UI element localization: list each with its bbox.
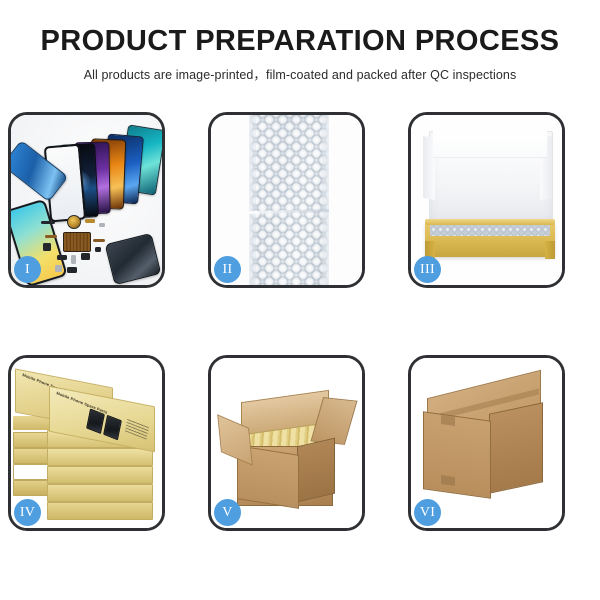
wrap-edge-left [249, 115, 256, 285]
part-ribbon-icon [93, 239, 105, 242]
step-badge-2: II [214, 256, 241, 283]
step-badge-1: I [14, 256, 41, 283]
stacked-box [47, 466, 153, 484]
part-screw-plate-icon [55, 265, 62, 272]
sealed-carton-front-panel [423, 411, 491, 499]
step-badge-4: IV [14, 499, 41, 526]
stacked-box [47, 448, 153, 466]
step-badge-5: V [214, 499, 241, 526]
logic-board-icon [63, 232, 91, 252]
mailer-tray-lip [425, 219, 555, 225]
wrap-edge-right [322, 115, 329, 285]
mailer-lid-top [433, 131, 547, 158]
box-label-spec-lines [125, 418, 149, 440]
part-vibrator-icon [67, 267, 77, 273]
page-title: PRODUCT PREPARATION PROCESS [0, 26, 600, 56]
stacked-box [47, 502, 153, 520]
process-step-3: III [408, 112, 565, 288]
process-step-5: V [208, 355, 365, 531]
box-label-screen-image [103, 415, 122, 441]
part-strip-icon [41, 221, 55, 224]
bubble-pattern [249, 115, 329, 285]
step-badge-3: III [414, 256, 441, 283]
part-speaker-icon [81, 253, 90, 260]
mailer-tray-corner-right [545, 241, 555, 259]
carton-tape-mark-bottom [441, 475, 455, 486]
process-steps-grid: I II [8, 112, 592, 544]
bubble-wrap-sheet [249, 115, 329, 285]
process-step-6: VI [408, 355, 565, 531]
part-silver-clip-icon [99, 223, 105, 227]
step-badge-6: VI [414, 499, 441, 526]
part-copper-flex-icon [45, 235, 57, 238]
box-label-screen-image [86, 408, 105, 434]
process-step-1: I [8, 112, 165, 288]
stacked-box [47, 484, 153, 502]
carton-tape-mark-top [441, 415, 455, 426]
header: PRODUCT PREPARATION PROCESS All products… [0, 26, 600, 83]
part-gold-flex-icon [85, 219, 95, 223]
speaker-coil-icon [67, 215, 81, 229]
sealed-carton-side-panel [489, 402, 543, 493]
page-subtitle: All products are image-printed，film-coat… [0, 64, 600, 83]
part-connector-icon [57, 255, 67, 260]
part-camera-icon [43, 243, 51, 251]
product-preparation-infographic: PRODUCT PREPARATION PROCESS All products… [0, 0, 600, 600]
part-button-icon [95, 247, 101, 252]
process-step-2: II [208, 112, 365, 288]
carton-side-panel [297, 438, 335, 503]
part-sim-tray-icon [71, 255, 76, 264]
process-step-4: Mobile Phone Spare Parts Mobile Phone Sp… [8, 355, 165, 531]
